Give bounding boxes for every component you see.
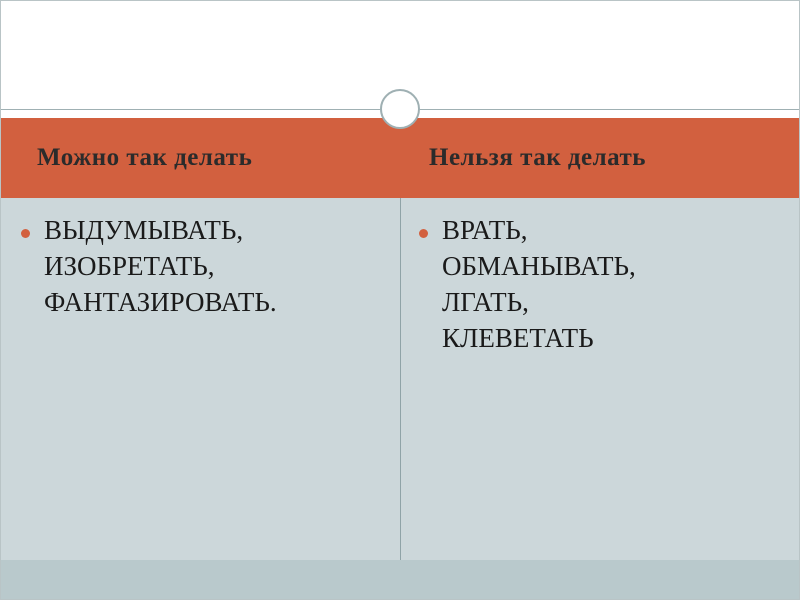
list-item-text: ВЫДУМЫВАТЬ, ИЗОБРЕТАТЬ, ФАНТАЗИРОВАТЬ. [44,213,381,321]
slide-canvas: Можно так делать Нельзя так делать ВЫДУМ… [0,0,800,600]
column-forbidden: ВРАТЬ, ОБМАНЫВАТЬ, ЛГАТЬ, КЛЕВЕТАТЬ [419,213,779,357]
bottom-strip [1,560,799,599]
circle-decoration-icon [380,89,420,129]
table-header-band: Можно так делать Нельзя так делать [1,118,799,198]
column-header-forbidden: Нельзя так делать [429,118,646,198]
list-item-text: ВРАТЬ, ОБМАНЫВАТЬ, ЛГАТЬ, КЛЕВЕТАТЬ [442,213,779,357]
bullet-dot-icon [21,229,30,238]
list-item: ВРАТЬ, ОБМАНЫВАТЬ, ЛГАТЬ, КЛЕВЕТАТЬ [419,213,779,357]
column-allowed: ВЫДУМЫВАТЬ, ИЗОБРЕТАТЬ, ФАНТАЗИРОВАТЬ. [21,213,381,321]
column-divider [400,198,401,560]
bullet-dot-icon [419,229,428,238]
column-header-allowed: Можно так делать [37,118,252,198]
list-item: ВЫДУМЫВАТЬ, ИЗОБРЕТАТЬ, ФАНТАЗИРОВАТЬ. [21,213,381,321]
